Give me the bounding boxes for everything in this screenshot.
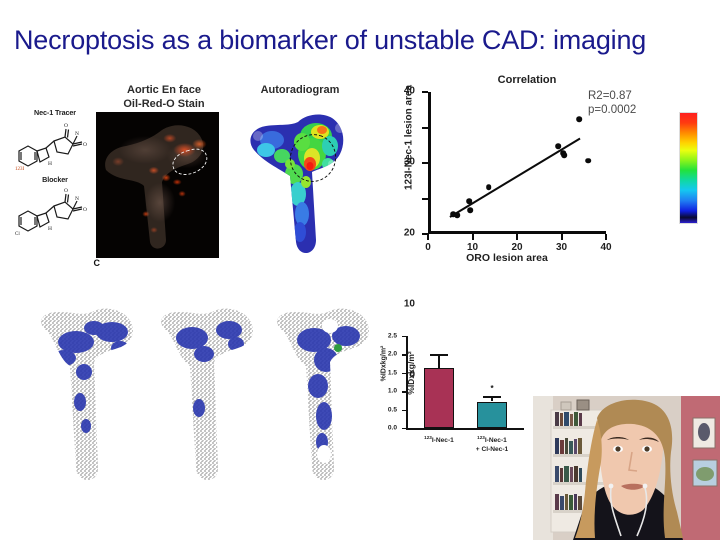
scatter-data-point <box>555 144 561 150</box>
autoradiogram-heading: Autoradiogram <box>235 84 365 98</box>
bar-chart-errorbar <box>438 354 439 367</box>
presenter-webcam-feed[interactable] <box>533 396 720 540</box>
scatter-title: Correlation <box>462 74 592 86</box>
autoradiogram-heatmap-icon <box>236 106 366 266</box>
scatter-regression-line <box>450 137 581 217</box>
bar-chart-y-tick-label: 1.0 <box>388 388 397 395</box>
bar-chart-x-axis <box>406 428 524 430</box>
bar-chart-y-tick-label: 2.0 <box>388 351 397 358</box>
scatter-y-tick: 20 <box>422 162 428 164</box>
three-aorta-autoradiograms-icon <box>24 306 376 488</box>
bar-chart-y-axis <box>406 336 408 430</box>
autoradiogram-image <box>236 106 366 266</box>
bar-chart-y-tick: 0.0 <box>402 428 406 429</box>
scatter-data-point <box>561 152 567 158</box>
scatter-x-tick <box>472 234 474 240</box>
oro-aorta-silhouette-icon <box>96 112 219 258</box>
svg-text:O: O <box>83 207 87 213</box>
chemical-structures-panel: Nec-1 Tracer H N O O 123I Blocker <box>12 108 98 266</box>
svg-text:O: O <box>83 142 87 148</box>
scatter-y-tick-label: 30 <box>404 157 415 168</box>
scatter-y-tick: 40 <box>422 91 428 93</box>
bar-chart-y-tick: 0.5 <box>402 410 406 411</box>
bar-chart-x-tick-label: 123I-Nec-1+ Cl-Nec-1 <box>460 434 524 454</box>
aortic-oro-photo <box>96 112 219 258</box>
svg-text:N: N <box>75 131 79 137</box>
bar-chart-y-label: %IDxkg/m² <box>381 334 388 394</box>
uptake-bar-chart: %IDxkg/m² 0.00.51.01.52.02.5123I-Nec-1*1… <box>378 328 548 463</box>
scatter-x-tick <box>605 234 607 240</box>
panel-letter-c: C <box>94 258 101 268</box>
svg-text:O: O <box>64 188 68 194</box>
scatter-data-point <box>577 117 583 123</box>
bar-chart-y-tick: 2.5 <box>402 336 406 337</box>
bar-chart-bar <box>424 368 454 428</box>
svg-text:H: H <box>48 161 52 167</box>
scatter-y-tick: 10 <box>422 198 428 200</box>
bar-chart-errorbar-cap <box>430 354 448 355</box>
svg-text:Cl: Cl <box>15 232 20 237</box>
scatter-x-tick-label: 20 <box>511 242 522 253</box>
webcam-frame-icon <box>533 396 720 540</box>
blocker-structure-icon: H N O O Cl <box>13 184 97 240</box>
scatter-y-tick-label: 20 <box>404 228 415 239</box>
bar-chart-y-tick: 1.5 <box>402 373 406 374</box>
blocker-label: Blocker <box>12 175 98 184</box>
bar-chart-y-tick-label: 2.5 <box>388 333 397 340</box>
bar-chart-bar <box>477 402 507 428</box>
triple-autoradiogram-panel: %IDxkg/m² <box>24 306 376 488</box>
scatter-data-point <box>467 207 473 213</box>
bar-chart-plot-area: 0.00.51.01.52.02.5123I-Nec-1*123I-Nec-1+… <box>406 336 524 430</box>
bar-chart-y-tick-label: 1.5 <box>388 369 397 376</box>
scatter-data-point <box>585 158 591 164</box>
tracer-label: Nec-1 Tracer <box>12 108 98 117</box>
bar-chart-significance-marker: * <box>490 384 493 393</box>
scatter-plot-area: 010203040010203040 <box>428 92 606 234</box>
svg-text:N: N <box>75 196 79 202</box>
scatter-x-tick-label: 10 <box>467 242 478 253</box>
scatter-y-tick: 30 <box>422 127 428 129</box>
scatter-x-tick-label: 0 <box>425 242 431 253</box>
scatter-x-axis-label: ORO lesion area <box>412 252 602 264</box>
scatter-x-tick <box>427 234 429 240</box>
scatter-y-tick-label: 40 <box>404 86 415 97</box>
oro-panel-heading: Aortic En face Oil-Red-O Stain <box>108 84 220 111</box>
bar-chart-y-tick-label: 0.5 <box>388 406 397 413</box>
scatter-y-tick-label: 10 <box>404 299 415 310</box>
bar-chart-y-tick: 1.0 <box>402 391 406 392</box>
page-title: Necroptosis as a biomarker of unstable C… <box>14 24 714 56</box>
nec1-tracer-structure-icon: H N O O 123I <box>13 117 97 175</box>
oro-heading-line1: Aortic En face <box>127 84 201 96</box>
scatter-data-point <box>466 198 472 204</box>
svg-text:123I: 123I <box>15 167 25 172</box>
rainbow-intensity-colorbar <box>679 112 698 224</box>
scatter-data-point <box>455 212 461 218</box>
slide-canvas: Necroptosis as a biomarker of unstable C… <box>0 0 720 540</box>
svg-text:H: H <box>48 226 52 232</box>
scatter-x-tick <box>516 234 518 240</box>
oro-heading-line2: Oil-Red-O Stain <box>123 98 204 110</box>
scatter-x-tick <box>561 234 563 240</box>
svg-text:O: O <box>64 123 68 129</box>
scatter-x-tick-label: 40 <box>600 242 611 253</box>
correlation-scatter-chart: Correlation R2=0.87 p=0.0002 123I-Nec-1 … <box>392 74 662 274</box>
scatter-y-axis <box>428 92 431 234</box>
bar-chart-y-tick-label: 0.0 <box>388 425 397 432</box>
scatter-data-point <box>486 184 492 190</box>
scatter-x-tick-label: 30 <box>556 242 567 253</box>
bar-chart-errorbar-cap <box>483 396 501 397</box>
bar-chart-y-tick: 2.0 <box>402 354 406 355</box>
